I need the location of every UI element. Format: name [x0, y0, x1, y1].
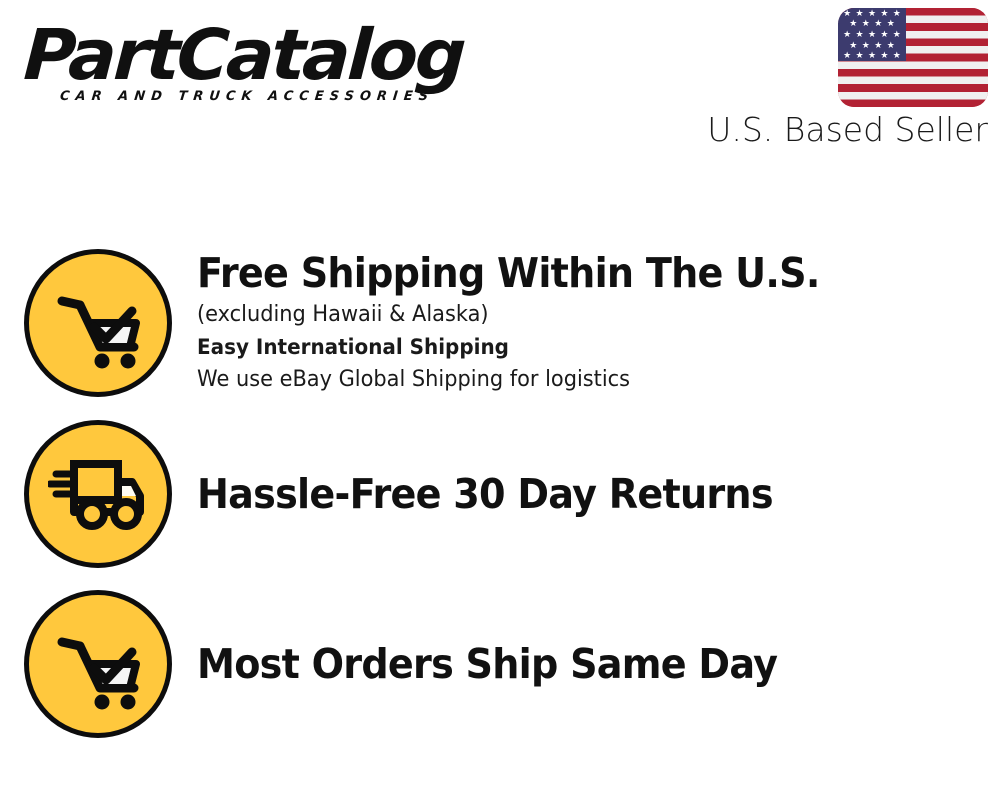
brand-logo[interactable]: PartCatalog CAR AND TRUCK ACCESSORIES	[24, 22, 494, 104]
feature-icon-wrap	[0, 249, 195, 397]
feature-subline: Easy International Shipping	[197, 331, 960, 364]
feature-heading: Free Shipping Within The U.S.	[197, 250, 944, 296]
feature-row: Free Shipping Within The U.S. (excluding…	[0, 238, 1000, 408]
feature-text: Most Orders Ship Same Day	[195, 641, 1000, 687]
feature-icon-wrap	[0, 420, 195, 568]
delivery-truck-icon	[24, 420, 172, 568]
brand-tagline: CAR AND TRUCK ACCESSORIES	[59, 89, 495, 104]
us-flag-icon: ★★★★★ ★★★★ ★★★★★ ★★★★ ★★★★★	[838, 8, 988, 107]
feature-heading: Hassle-Free 30 Day Returns	[197, 471, 944, 517]
feature-icon-wrap	[0, 590, 195, 738]
feature-subline: We use eBay Global Shipping for logistic…	[197, 364, 960, 396]
feature-subline: (excluding Hawaii & Alaska)	[197, 299, 960, 331]
shopping-cart-check-icon	[24, 590, 172, 738]
seller-label: U.S. Based Seller	[688, 110, 988, 150]
us-based-seller-badge: ★★★★★ ★★★★ ★★★★★ ★★★★ ★★★★★ U.S. Based S…	[688, 8, 988, 150]
shopping-cart-check-icon	[24, 249, 172, 397]
feature-row: Hassle-Free 30 Day Returns	[0, 416, 1000, 571]
feature-text: Free Shipping Within The U.S. (excluding…	[195, 250, 1000, 396]
flag-canton: ★★★★★ ★★★★ ★★★★★ ★★★★ ★★★★★	[838, 8, 906, 61]
brand-name: PartCatalog	[22, 22, 505, 88]
feature-row: Most Orders Ship Same Day	[0, 586, 1000, 741]
feature-text: Hassle-Free 30 Day Returns	[195, 471, 1000, 517]
page-header: PartCatalog CAR AND TRUCK ACCESSORIES ★★…	[0, 0, 1000, 175]
feature-heading: Most Orders Ship Same Day	[197, 641, 944, 687]
